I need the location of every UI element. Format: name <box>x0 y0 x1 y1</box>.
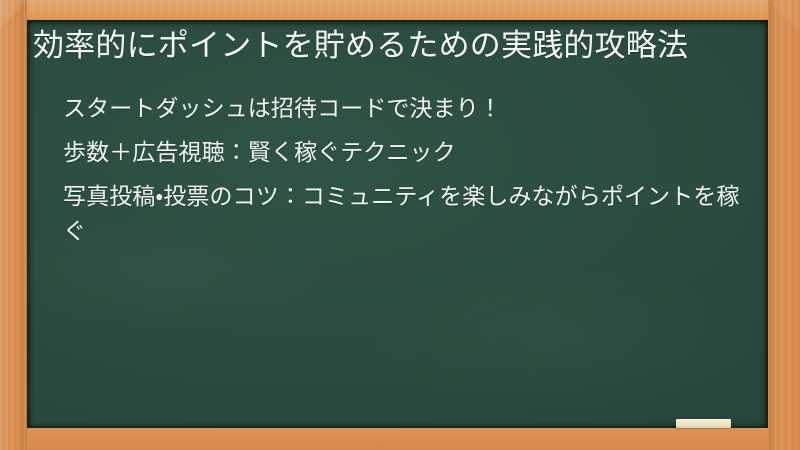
frame-miter-top-right <box>768 0 800 32</box>
frame-rail-top <box>0 0 800 20</box>
chalkboard-surface: 効率的にポイントを貯めるための実践的攻略法 スタートダッシュは招待コードで決まり… <box>27 20 768 428</box>
frame-rail-left <box>0 0 27 450</box>
board-topic-list: スタートダッシュは招待コードで決まり！ 歩数＋広告視聴：賢く稼ぐテクニック 写真… <box>33 92 750 250</box>
list-item: スタートダッシュは招待コードで決まり！ <box>63 92 750 127</box>
chalk-stick-icon <box>676 419 731 428</box>
chalkboard-frame: 効率的にポイントを貯めるための実践的攻略法 スタートダッシュは招待コードで決まり… <box>0 0 800 450</box>
chalkboard-content: 効率的にポイントを貯めるための実践的攻略法 スタートダッシュは招待コードで決まり… <box>27 20 768 250</box>
list-item: 写真投稿・投票のコツ：コミュニティを楽しみながらポイントを稼ぐ <box>63 180 750 250</box>
board-title: 効率的にポイントを貯めるための実践的攻略法 <box>33 24 750 68</box>
frame-rail-right <box>768 0 800 450</box>
list-item: 歩数＋広告視聴：賢く稼ぐテクニック <box>63 136 750 171</box>
frame-miter-top-left <box>0 0 27 27</box>
frame-rail-bottom <box>0 428 800 450</box>
